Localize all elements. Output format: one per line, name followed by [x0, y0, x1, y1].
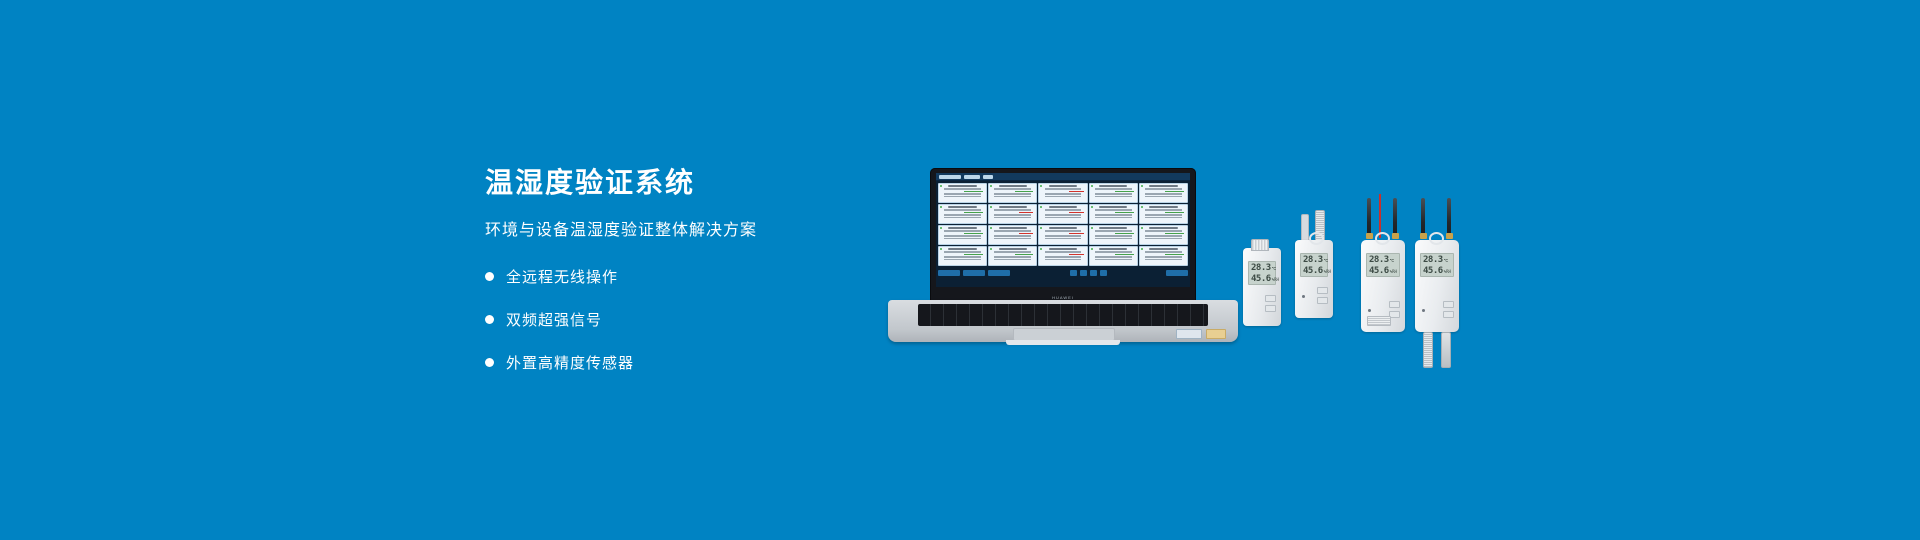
status-dot-icon	[1040, 248, 1042, 250]
status-dot-icon	[1141, 185, 1143, 187]
laptop-sticker	[1206, 329, 1226, 339]
antenna-base-icon	[1420, 233, 1427, 239]
device-card[interactable]	[1139, 183, 1188, 203]
feature-list: 全远程无线操作 双频超强信号 外置高精度传感器	[485, 266, 905, 373]
humidity-value: 45.6	[1423, 266, 1443, 276]
device-button[interactable]	[1443, 301, 1454, 308]
device-card[interactable]	[938, 225, 987, 245]
list-item: 双频超强信号	[485, 309, 905, 330]
antenna-icon	[1421, 198, 1425, 238]
status-dot-icon	[990, 185, 992, 187]
page-title: 温湿度验证系统	[485, 168, 905, 199]
feature-label: 外置高精度传感器	[506, 352, 634, 373]
status-dot-icon	[940, 206, 942, 208]
toolbar-item[interactable]	[964, 175, 980, 179]
bullet-icon	[485, 358, 494, 367]
data-logger-small-1: 28.3 ℃ 45.6 %RH	[1243, 248, 1281, 326]
device-lcd-display: 28.3 ℃ 45.6 %RH	[1420, 253, 1454, 277]
status-dot-icon	[1040, 206, 1042, 208]
wireless-logger-1: 28.3 ℃ 45.6 %RH	[1361, 240, 1405, 332]
laptop-lid: HUAWEI	[930, 168, 1196, 303]
device-brand-label	[1247, 253, 1277, 257]
hanging-loop-icon	[1309, 232, 1324, 245]
laptop-product-image: HUAWEI	[888, 168, 1238, 368]
pagination-page[interactable]	[1070, 270, 1077, 276]
banner-copy: 温湿度验证系统 环境与设备温湿度验证整体解决方案 全远程无线操作 双频超强信号 …	[485, 168, 905, 395]
device-card[interactable]	[1038, 204, 1087, 224]
status-dot-icon	[1091, 248, 1093, 250]
device-lcd-display: 28.3 ℃ 45.6 %RH	[1248, 261, 1276, 285]
temperature-value: 28.3	[1369, 255, 1389, 265]
app-footer-bar	[936, 268, 1190, 277]
bullet-icon	[485, 315, 494, 324]
device-button[interactable]	[1443, 311, 1454, 318]
sensor-vent-icon	[1367, 316, 1391, 326]
temperature-unit: ℃	[1324, 256, 1329, 266]
pagination-page[interactable]	[1090, 270, 1097, 276]
device-card[interactable]	[1038, 246, 1087, 266]
device-brand-label	[1419, 245, 1455, 249]
antenna-icon	[1447, 198, 1451, 238]
sensor-cap-icon	[1251, 239, 1269, 251]
device-brand-label	[1299, 245, 1329, 249]
device-brand-label	[1365, 245, 1401, 249]
status-dot-icon	[1141, 227, 1143, 229]
humidity-value: 45.6	[1251, 274, 1271, 284]
device-card[interactable]	[1038, 225, 1087, 245]
device-lcd-display: 28.3 ℃ 45.6 %RH	[1366, 253, 1400, 277]
humidity-unit: %RH	[1272, 275, 1279, 285]
status-dot-icon	[1091, 185, 1093, 187]
status-dot-icon	[1040, 227, 1042, 229]
laptop-front-lip	[1006, 340, 1120, 345]
humidity-value: 45.6	[1303, 266, 1323, 276]
footer-right-button[interactable]	[1166, 270, 1188, 276]
status-dot-icon	[940, 185, 942, 187]
device-product-images: 28.3 ℃ 45.6 %RH	[1243, 218, 1533, 398]
footer-button[interactable]	[963, 270, 985, 276]
temperature-unit: ℃	[1272, 264, 1277, 274]
temperature-value: 28.3	[1303, 255, 1323, 265]
status-dot-icon	[1091, 206, 1093, 208]
device-card[interactable]	[938, 204, 987, 224]
temperature-value: 28.3	[1423, 255, 1443, 265]
device-button-group	[1317, 284, 1328, 304]
device-card[interactable]	[988, 246, 1037, 266]
antenna-base-icon	[1446, 233, 1453, 239]
device-button-group	[1443, 298, 1454, 318]
status-dot-icon	[940, 248, 942, 250]
temperature-unit: ℃	[1444, 256, 1449, 266]
hanging-loop-icon	[1375, 232, 1390, 245]
device-card[interactable]	[988, 204, 1037, 224]
antenna-base-icon	[1366, 233, 1373, 239]
list-item: 全远程无线操作	[485, 266, 905, 287]
device-card[interactable]	[1139, 204, 1188, 224]
device-card[interactable]	[938, 246, 987, 266]
humidity-unit: %RH	[1324, 267, 1331, 277]
feature-label: 全远程无线操作	[506, 266, 618, 287]
humidity-unit: %RH	[1390, 267, 1397, 277]
antenna-base-icon	[1392, 233, 1399, 239]
pagination-page[interactable]	[1100, 270, 1107, 276]
antenna-icon	[1367, 198, 1371, 238]
status-dot-icon	[1040, 185, 1042, 187]
temperature-unit: ℃	[1390, 256, 1395, 266]
device-card[interactable]	[988, 225, 1037, 245]
device-card[interactable]	[1089, 183, 1138, 203]
device-card[interactable]	[1089, 246, 1138, 266]
hanging-loop-icon	[1429, 232, 1444, 245]
status-dot-icon	[1141, 206, 1143, 208]
laptop-base	[888, 300, 1238, 342]
device-button[interactable]	[1389, 301, 1400, 308]
toolbar-item[interactable]	[939, 175, 961, 179]
page-subtitle: 环境与设备温湿度验证整体解决方案	[485, 221, 905, 240]
device-card[interactable]	[1139, 246, 1188, 266]
status-dot-icon	[940, 227, 942, 229]
temperature-value: 28.3	[1251, 263, 1271, 273]
feature-label: 双频超强信号	[506, 309, 602, 330]
device-button[interactable]	[1265, 305, 1276, 312]
device-card-grid	[936, 181, 1190, 268]
laptop-keyboard[interactable]	[918, 304, 1208, 326]
probe-stem-icon	[1301, 214, 1309, 242]
device-card[interactable]	[1089, 204, 1138, 224]
status-dot-icon	[990, 227, 992, 229]
laptop-sticker	[1176, 329, 1202, 339]
data-logger-small-2: 28.3 ℃ 45.6 %RH	[1295, 240, 1333, 318]
external-sensor-probe-icon	[1423, 332, 1433, 368]
device-card[interactable]	[1038, 183, 1087, 203]
device-button[interactable]	[1265, 295, 1276, 302]
external-sensor-probe-icon	[1441, 332, 1451, 368]
device-card[interactable]	[938, 183, 987, 203]
app-toolbar	[936, 173, 1190, 181]
status-led-icon	[1368, 309, 1371, 312]
status-dot-icon	[990, 248, 992, 250]
footer-button[interactable]	[988, 270, 1010, 276]
device-button[interactable]	[1317, 287, 1328, 294]
status-dot-icon	[1091, 227, 1093, 229]
laptop-screen	[936, 173, 1190, 287]
device-button-group	[1265, 292, 1276, 312]
bullet-icon	[485, 272, 494, 281]
device-card[interactable]	[988, 183, 1037, 203]
footer-button-group	[938, 270, 1010, 276]
toolbar-item[interactable]	[983, 175, 993, 179]
pagination-page[interactable]	[1080, 270, 1087, 276]
list-item: 外置高精度传感器	[485, 352, 905, 373]
status-led-icon	[1302, 295, 1305, 298]
device-card[interactable]	[1089, 225, 1138, 245]
pagination	[1070, 270, 1107, 276]
humidity-value: 45.6	[1369, 266, 1389, 276]
device-button[interactable]	[1317, 297, 1328, 304]
footer-right-group	[1166, 270, 1188, 276]
footer-button[interactable]	[938, 270, 960, 276]
wireless-logger-2: 28.3 ℃ 45.6 %RH	[1415, 240, 1459, 332]
device-button-group	[1389, 298, 1400, 318]
promo-banner: 温湿度验证系统 环境与设备温湿度验证整体解决方案 全远程无线操作 双频超强信号 …	[0, 0, 1920, 540]
humidity-unit: %RH	[1444, 267, 1451, 277]
device-card[interactable]	[1139, 225, 1188, 245]
antenna-icon	[1393, 198, 1397, 238]
device-lcd-display: 28.3 ℃ 45.6 %RH	[1300, 253, 1328, 277]
status-dot-icon	[990, 206, 992, 208]
status-led-icon	[1422, 309, 1425, 312]
status-dot-icon	[1141, 248, 1143, 250]
